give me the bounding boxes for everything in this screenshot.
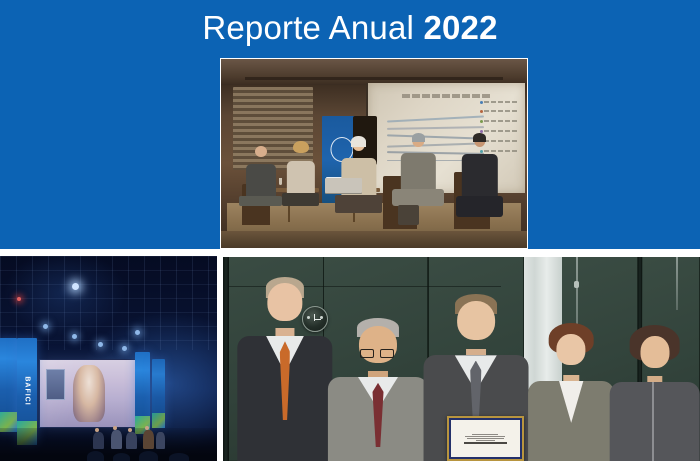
screen-subject (73, 365, 106, 422)
festival-banner (135, 352, 150, 434)
award-person (528, 324, 614, 461)
stage-light (72, 334, 77, 339)
legend-swatch (480, 110, 483, 113)
award-person (237, 277, 332, 461)
award-person (328, 318, 428, 461)
page-title-year: 2022 (423, 9, 497, 46)
cinema-screen (39, 359, 137, 429)
chart-series-line (387, 126, 484, 129)
festival-banner-label: BAFICI (24, 377, 31, 406)
photo-award-ceremony (223, 257, 700, 461)
stage-light (122, 346, 127, 351)
panelist (454, 135, 506, 233)
laptop (325, 178, 362, 193)
screen-image-frame (46, 369, 65, 400)
banner-accent (152, 413, 165, 428)
stage-panelist (143, 430, 154, 448)
stage-floor (221, 231, 527, 248)
audience-silhouette (113, 453, 130, 461)
legend-swatch (480, 120, 483, 123)
stage-panelist (111, 430, 122, 448)
panelist (239, 146, 282, 222)
stage-light (98, 342, 103, 347)
chart-legend-item (484, 110, 519, 112)
photo-panel-discussion (220, 58, 528, 249)
panelist (392, 135, 444, 230)
framed-certificate (447, 416, 523, 461)
photo-festival-venue: BAFICI (0, 256, 217, 461)
page-title: Reporte Anual 2022 (0, 8, 700, 48)
festival-banner (0, 338, 17, 432)
audience-silhouette (87, 451, 104, 461)
stage-panelist-head (113, 426, 117, 430)
stage-panelist (156, 432, 165, 448)
ceiling (221, 59, 527, 85)
page-title-light: Reporte Anual (202, 9, 414, 46)
slide-title (402, 94, 490, 98)
eyeglasses-icon (360, 349, 374, 358)
panelist (279, 142, 322, 221)
eyeglasses-icon (380, 349, 394, 358)
stage-panelist (93, 432, 104, 448)
rod-knob (574, 281, 579, 288)
ceiling-beam (245, 77, 502, 80)
chart-legend-item (484, 120, 519, 122)
award-person (609, 326, 700, 461)
audience-silhouette (169, 453, 189, 461)
audience-silhouette (139, 451, 159, 461)
chart-legend-item (484, 130, 519, 132)
chart-series-line (387, 116, 484, 123)
hanging-rod (676, 257, 678, 310)
ceiling-truss (0, 256, 217, 350)
stage-light (135, 330, 140, 335)
festival-banner (152, 359, 165, 429)
report-cover-page: Reporte Anual 2022 (0, 0, 700, 461)
stage-light (72, 283, 79, 290)
legend-swatch (480, 101, 483, 104)
chart-legend-item (484, 101, 519, 103)
stage-panelist (126, 432, 137, 448)
